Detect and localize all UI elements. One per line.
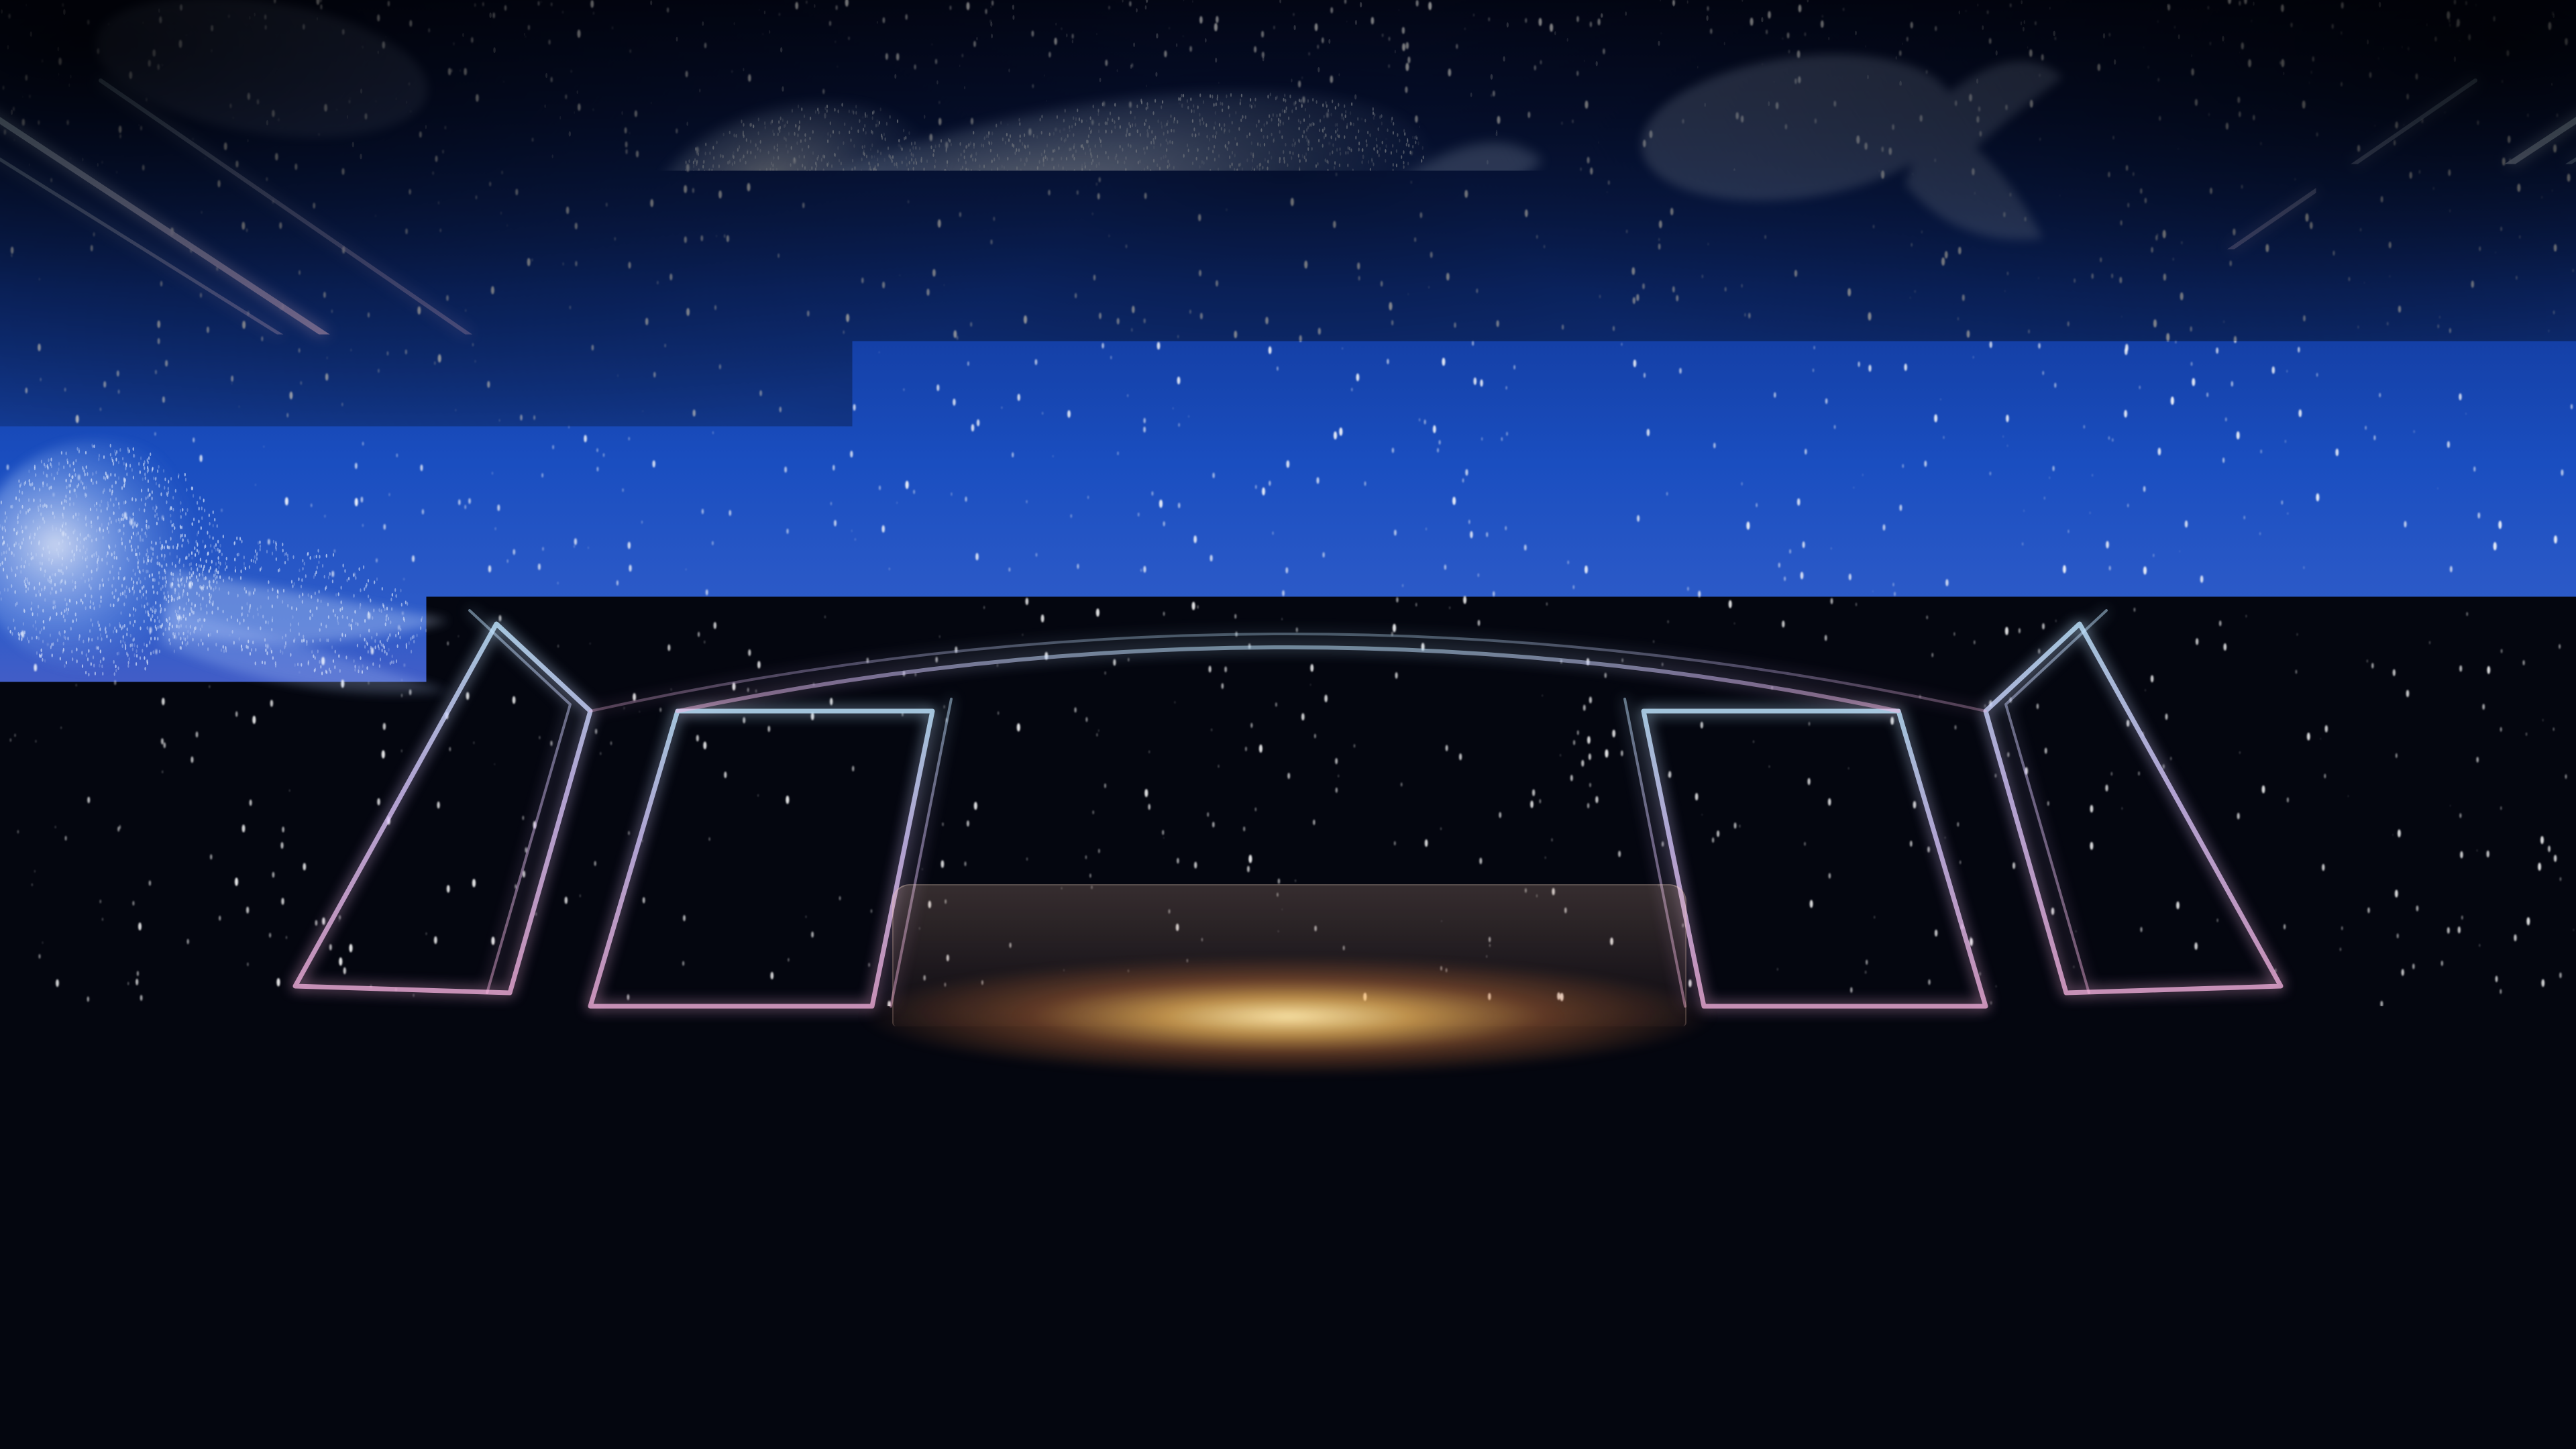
ces-trademark: TM — [1512, 1038, 1521, 1049]
venue-text: LVCC - West Hall, Booth # 4400 — [0, 1249, 2576, 1301]
headline-line-1: Infinite Future — [0, 470, 2576, 571]
logo-divider — [1307, 1030, 1311, 1095]
sky-canopy-background — [0, 0, 2576, 1449]
headline: Infinite Future Unlimited Possibilities — [0, 470, 2576, 672]
ces-logo: TM — [1338, 1036, 1521, 1089]
logo-lockup: TM — [0, 1025, 2576, 1100]
event-details: LVCC - West Hall, Booth # 4400 January 7… — [0, 1249, 2576, 1353]
auo-logo — [1055, 1025, 1281, 1100]
dates-text: January 7-10, 2025 — [0, 1301, 2576, 1354]
headline-line-2: Unlimited Possibilities — [0, 571, 2576, 672]
key-visual-poster: Infinite Future Unlimited Possibilities — [0, 0, 2576, 1449]
